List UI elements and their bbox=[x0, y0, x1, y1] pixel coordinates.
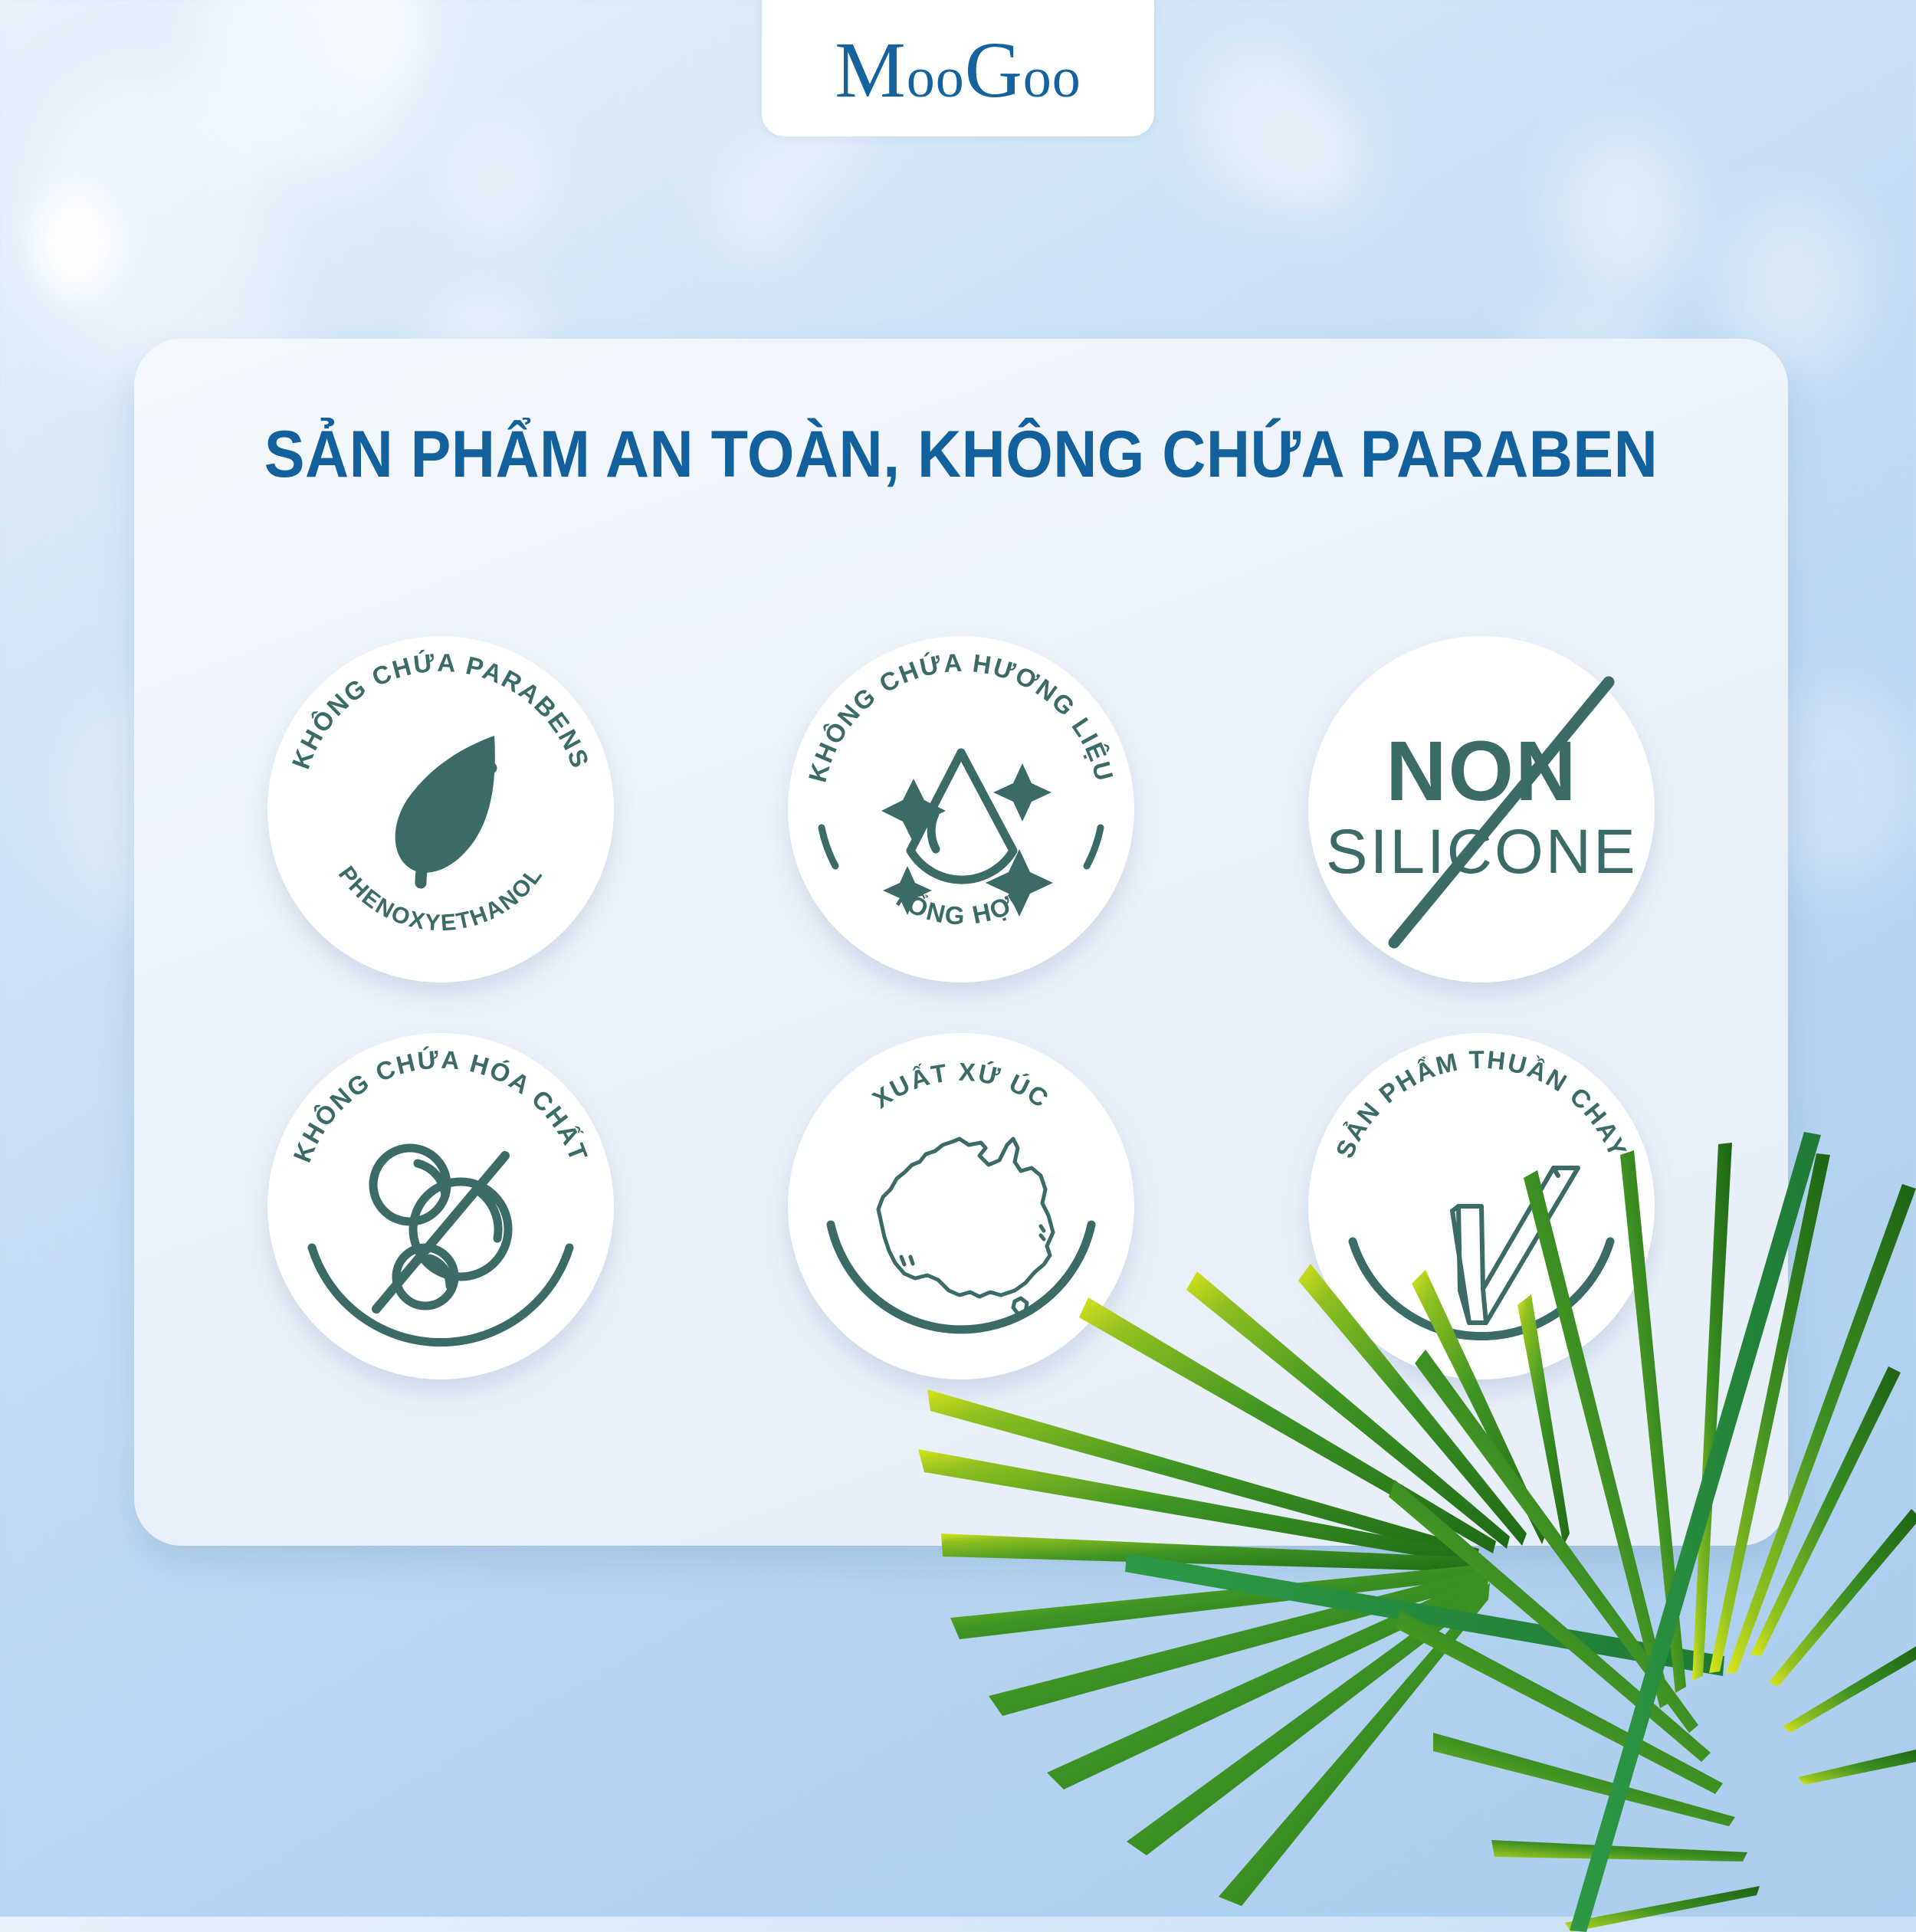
checkmark-icon bbox=[1452, 1168, 1578, 1323]
leaf-icon bbox=[395, 736, 494, 883]
badge-no-chemicals-top-label: KHÔNG CHỨA HÓA CHẤT bbox=[287, 1045, 593, 1166]
bokeh-circle bbox=[34, 188, 119, 295]
logo-letter-g: G bbox=[965, 26, 1023, 114]
bokeh-circle bbox=[23, 69, 276, 376]
bokeh-circle bbox=[452, 126, 540, 234]
sparkle-icons bbox=[881, 763, 1053, 917]
badge-made-in-australia[interactable]: XUẤT XỨ ÚC bbox=[788, 1033, 1134, 1379]
badge-vegan-graphic: SẢN PHẨM THUẦN CHAY bbox=[1308, 1033, 1655, 1379]
content-card: SẢN PHẨM AN TOÀN, KHÔNG CHỨA PARABEN KHÔ… bbox=[134, 339, 1788, 1546]
badge-non-silicone[interactable]: NON SILICONE bbox=[1308, 636, 1655, 982]
bokeh-circle bbox=[1276, 103, 1368, 218]
bokeh-circle bbox=[195, 0, 425, 184]
badge-no-parabens-bottom-label: PHENOXYETHANOL bbox=[333, 862, 548, 936]
logo-letters-oo2: oo bbox=[1023, 47, 1081, 110]
bokeh-circle bbox=[322, 0, 425, 80]
badge-vegan[interactable]: SẢN PHẨM THUẦN CHAY bbox=[1308, 1033, 1655, 1379]
logo-letter-m: M bbox=[835, 26, 906, 114]
badge-no-parabens[interactable]: KHÔNG CHỨA PARABENS PHENOXYETHANOL bbox=[267, 636, 614, 982]
crossed-bubbles-icon bbox=[373, 1148, 508, 1309]
badge-no-synthetic-fragrance-graphic: KHÔNG CHỨA HƯƠNG LIỆU TỔNG HỢP bbox=[788, 636, 1134, 982]
badge-vegan-top-label: SẢN PHẨM THUẦN CHAY bbox=[1330, 1045, 1633, 1163]
page-title: SẢN PHẨM AN TOÀN, KHÔNG CHỨA PARABEN bbox=[200, 417, 1721, 493]
badge-no-parabens-top-label: KHÔNG CHỨA PARABENS bbox=[286, 648, 595, 772]
logo-letters-oo: oo bbox=[907, 47, 965, 110]
badge-no-chemicals-graphic: KHÔNG CHỨA HÓA CHẤT bbox=[267, 1033, 614, 1379]
badge-no-synthetic-fragrance-top-label: KHÔNG CHỨA HƯƠNG LIỆU bbox=[803, 648, 1120, 786]
badge-grid: KHÔNG CHỨA PARABENS PHENOXYETHANOL bbox=[180, 636, 1742, 1379]
badge-no-synthetic-fragrance[interactable]: KHÔNG CHỨA HƯƠNG LIỆU TỔNG HỢP bbox=[788, 636, 1134, 982]
diagonal-slash-icon bbox=[1308, 636, 1655, 982]
badge-no-chemicals[interactable]: KHÔNG CHỨA HÓA CHẤT bbox=[267, 1033, 614, 1379]
brand-logo-plate: MooGoo bbox=[762, 0, 1154, 136]
badge-no-parabens-graphic: KHÔNG CHỨA PARABENS PHENOXYETHANOL bbox=[267, 636, 614, 982]
bottom-arc-icon bbox=[831, 1225, 1091, 1330]
brand-logo-text: MooGoo bbox=[835, 31, 1081, 136]
bokeh-circle bbox=[717, 146, 805, 261]
side-dash-left-icon bbox=[822, 828, 835, 866]
badge-made-in-australia-top-label: XUẤT XỨ ÚC bbox=[868, 1058, 1055, 1114]
bokeh-circle bbox=[1556, 130, 1690, 299]
side-dash-right-icon bbox=[1087, 828, 1101, 866]
australia-map-icon bbox=[878, 1139, 1053, 1314]
bokeh-circle bbox=[1196, 46, 1330, 203]
badge-made-in-australia-graphic: XUẤT XỨ ÚC bbox=[788, 1033, 1134, 1379]
